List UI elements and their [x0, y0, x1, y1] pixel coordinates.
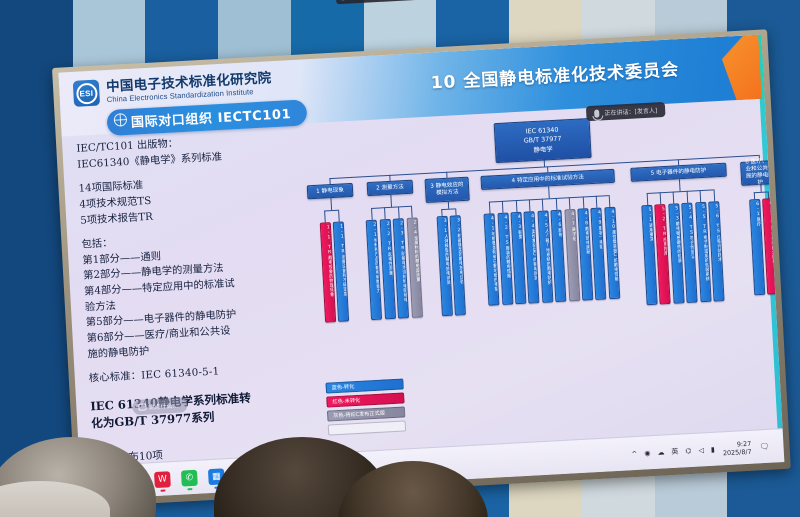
- tray-icon-group: ^◉☁英⌬◁▮: [631, 444, 715, 458]
- connector: [390, 195, 392, 207]
- leaf-text: 服装的静电性能: [505, 245, 512, 277]
- voice-tip-text: 正在讲话：[发言人]: [604, 105, 657, 117]
- microphone-icon: [594, 109, 599, 117]
- leaf-code: 2-1: [372, 223, 378, 238]
- category-node-c2: 2 测量方法: [367, 180, 414, 196]
- connector: [713, 189, 715, 201]
- leaf-code: 4-9: [597, 210, 603, 225]
- leaf-code: 4-10: [610, 210, 616, 230]
- screen: 10 全国静电标准化技术委员会 ESI 中国电子技术标准化研究院 China E…: [58, 35, 784, 500]
- notification-center-icon[interactable]: 🗨: [759, 442, 770, 452]
- leaf-node: 2-4全属材料的静电监测量: [406, 217, 422, 317]
- connector: [582, 196, 584, 208]
- connector: [411, 206, 413, 218]
- leaf-code: 5-5 TR: [701, 205, 708, 235]
- legend-item-blank: [328, 420, 406, 435]
- leaf-text: 应用指南: [662, 237, 668, 256]
- leaf-text: 离子化: [571, 227, 577, 241]
- legend-item: 灰色-待IEC发布正式版: [327, 406, 405, 421]
- category-node-c5: 5 电子器件的静电防护: [630, 163, 727, 182]
- legend: 蓝色-转化红色-未转化灰色-待IEC发布正式版: [325, 378, 406, 438]
- connector: [324, 210, 326, 222]
- taskbar-clock[interactable]: 9:27 2025/8/7: [722, 439, 752, 457]
- leaf-text: 全属材料的静电监测量: [413, 235, 420, 281]
- leaf-text: 过程评估技术: [716, 234, 722, 262]
- wps-office-icon[interactable]: W: [154, 471, 171, 488]
- leaf-code: 6-1: [755, 202, 761, 217]
- pill-label: 国际对口组织 IECTC101: [131, 107, 292, 131]
- leaf-code: 4-1: [490, 216, 496, 231]
- leaf-code: 1-1 TR: [339, 224, 346, 254]
- leaf-code: 5-6 TS: [714, 204, 721, 234]
- legend-item-label: 蓝色-转化: [332, 383, 355, 391]
- leaf-node: 5-6 TS过程评估技术: [708, 201, 724, 301]
- leaf-code: 4-3: [517, 215, 523, 230]
- connector: [700, 190, 702, 202]
- category-node-label: 5 电子器件的静电防护: [651, 168, 707, 177]
- connector: [609, 195, 611, 207]
- connector: [441, 208, 454, 210]
- publications-block: IEC/TC101 出版物： IEC61340《静电学》系列标准: [76, 130, 299, 173]
- leaf-text: 医疗: [756, 217, 761, 226]
- leaf-text: 材料和产品的静电耗散能力: [373, 238, 381, 293]
- leaf-code: 1-1 TR: [326, 225, 333, 255]
- chat-input-box[interactable]: 说点什么...: [132, 397, 187, 415]
- taskbar-running-indicator: [160, 489, 165, 491]
- leaf-node: 4-10柔性集装袋C的静电性能: [604, 207, 620, 299]
- conversion-title: IEC 61340静电学系列标准转 化为GB/T 37977系列: [90, 386, 313, 432]
- leaf-text: 柔性集装袋C的静电防护: [531, 229, 539, 280]
- leaf-code: 6-2 TS: [768, 201, 775, 231]
- connector: [338, 210, 340, 222]
- leaf-code: 5-1: [647, 208, 653, 223]
- connector: [673, 192, 675, 204]
- battery-icon[interactable]: ▮: [711, 445, 715, 453]
- leaf-code: 2-2 TR: [386, 222, 393, 252]
- legend-item: 红色-未转化: [326, 392, 404, 407]
- leaf-code: 3-1: [443, 219, 449, 234]
- header-teal-edge: [681, 35, 764, 103]
- category-node-label: 2 测量方法: [376, 184, 404, 192]
- security-icon[interactable]: ◉: [644, 449, 651, 457]
- leaf-code: 4-5: [543, 213, 549, 228]
- connector: [398, 206, 400, 218]
- connector: [330, 198, 332, 210]
- connector: [542, 199, 544, 211]
- tree-root-node: IEC 61340 GB/T 37977 静电学: [494, 118, 592, 163]
- connector: [384, 207, 386, 219]
- root-line-2: GB/T 37977: [524, 136, 562, 145]
- leaf-code: 4-4: [530, 214, 536, 229]
- leaf-code: 3-2: [456, 218, 462, 233]
- category-node-label: 6 医疗、商业和公共设施的静电防护: [744, 158, 775, 188]
- ime-language-indicator[interactable]: 英: [671, 446, 679, 456]
- leaf-node: 1-1 TR测量设备和不确定度: [333, 221, 349, 321]
- leaf-text: 服装—电阻: [598, 225, 604, 249]
- leaf-node: 6-2 TS公共和商业区域: [762, 198, 778, 294]
- leaf-code: 4-8: [584, 211, 590, 226]
- volume-icon[interactable]: ◁: [698, 446, 704, 454]
- leaf-code: 5-4 TS: [688, 206, 695, 236]
- leaf-text: 鞋类: [517, 230, 522, 239]
- connector: [660, 192, 662, 204]
- leaf-text: 腕带: [558, 228, 563, 237]
- esi-logo-text: ESI: [79, 88, 93, 98]
- leaf-code: 2-3 TR: [399, 221, 406, 251]
- leaf-code: 2-4: [412, 220, 418, 235]
- connector: [371, 208, 373, 220]
- taskbar-system-tray: ^◉☁英⌬◁▮ 9:27 2025/8/7 🗨: [631, 438, 784, 462]
- connector: [548, 186, 550, 198]
- legend-item-label: 红色-未转化: [332, 397, 360, 405]
- leaf-text: 起电性测量: [387, 252, 393, 275]
- globe-icon: [114, 113, 128, 127]
- leaf-code: 5-2 TR: [661, 207, 668, 237]
- category-node-label: 3 静电效应的模拟方法: [429, 182, 466, 198]
- chat-placeholder-text: 说点什么...: [148, 403, 178, 412]
- counts-block: 14项国际标准 4项技术规范TS 5项技术报告TR: [78, 170, 302, 229]
- esi-logo-icon: ESI: [73, 79, 100, 106]
- television-display: 10 全国静电标准化技术委员会 ESI 中国电子技术标准化研究院 China E…: [52, 29, 791, 507]
- leaf-text: 测量设备和不确定度: [341, 254, 348, 296]
- legend-item: 蓝色-转化: [325, 378, 403, 393]
- connector: [502, 201, 504, 213]
- taskbar-running-indicator: [187, 488, 192, 490]
- leaf-text: 柔性集装袋C的静电性能: [611, 230, 619, 281]
- wechat-icon[interactable]: ✆: [181, 469, 198, 486]
- standards-tree-diagram: IEC 61340 GB/T 37977 静电学 1 静电现象2 测量方法3 静…: [298, 107, 777, 450]
- category-node-c1: 1 静电现象: [307, 183, 354, 199]
- presentation-slide: 10 全国静电标准化技术委员会 ESI 中国电子技术标准化研究院 China E…: [58, 35, 782, 466]
- connector: [596, 196, 598, 208]
- leaf-text: 人/鞋/地系统的静电防护: [544, 228, 552, 284]
- connector: [371, 206, 411, 209]
- leaf-text: 静电敏感器件的包装: [675, 221, 682, 263]
- connector: [754, 191, 767, 193]
- connector: [679, 179, 681, 191]
- leaf-node: 3-2机器模型的静电放电试验: [450, 215, 466, 315]
- network-icon[interactable]: ⌬: [685, 446, 692, 454]
- connector: [489, 202, 491, 214]
- category-node-label: 4 特定应用中的标准试验方法: [511, 174, 584, 184]
- leaf-text: 防静电泡沫材料电阻和电: [401, 251, 409, 302]
- show-hidden-icons[interactable]: ^: [631, 449, 637, 457]
- category-node-c6: 6 医疗、商业和公共设施的静电防护: [740, 160, 779, 186]
- connector: [515, 200, 517, 212]
- connector: [529, 199, 531, 211]
- category-node-c3: 3 静电效应的模拟方法: [425, 177, 470, 203]
- leaf-text: 公共和商业区域: [770, 231, 777, 263]
- leaf-text: 人体模型的静电放电试验: [443, 234, 451, 285]
- connector: [569, 197, 571, 209]
- left-text-column: IEC/TC101 出版物： IEC61340《静电学》系列标准 14项国际标准…: [76, 130, 317, 466]
- room-background: 10 全国静电标准化技术委员会 ESI 中国电子技术标准化研究院 China E…: [0, 0, 800, 517]
- leaf-text: 电子制造用的包装系统: [703, 235, 710, 281]
- leaf-text: 地板覆盖物和已敷地板的电阻: [491, 231, 499, 291]
- leaf-text: 机器模型的静电放电试验: [457, 233, 465, 284]
- legend-item-label: 灰色-待IEC发布正式版: [333, 410, 385, 420]
- leaf-text: 静电放电屏蔽: [584, 226, 590, 254]
- leaf-code: 4-6: [557, 213, 563, 228]
- leaf-code: 4-7: [570, 212, 576, 227]
- leaf-code: 5-3: [674, 206, 680, 221]
- share-status-text: 您正在共享屏幕: [340, 0, 382, 2]
- category-node-label: 1 静电现象: [316, 187, 344, 195]
- root-line-3: 静电学: [533, 146, 553, 154]
- parts-block: 包括： 第1部分——通则 第2部分——静电学的测量方法 第4部分——特定应用中的…: [81, 226, 309, 363]
- connector: [646, 193, 648, 205]
- connector: [324, 210, 337, 212]
- connector: [686, 191, 688, 203]
- leaf-code: 4-2 TS: [503, 216, 510, 246]
- cloud-icon[interactable]: ☁: [657, 448, 664, 456]
- connector: [555, 198, 557, 210]
- tv-bezel: 10 全国静电标准化技术委员会 ESI 中国电子技术标准化研究院 China E…: [52, 29, 791, 507]
- clock-date: 2025/8/7: [723, 447, 752, 457]
- leaf-text: 静电现象的物理现象: [327, 255, 334, 297]
- core-standard-line: 核心标准：IEC 61340-5-1: [88, 360, 311, 388]
- leaf-text: 通用要求: [648, 223, 654, 242]
- leaf-text: 符合性验证: [689, 236, 695, 259]
